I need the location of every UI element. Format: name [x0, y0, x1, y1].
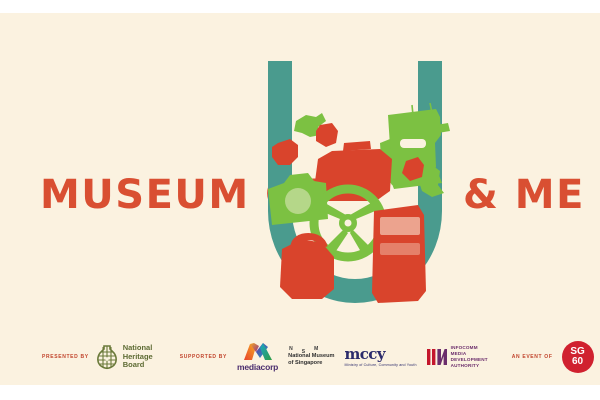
nhb-wordmark: National Heritage Board: [123, 344, 153, 369]
radio-cassette-icon: [372, 205, 426, 303]
sg60-logo[interactable]: SG 60: [562, 341, 594, 373]
mccy-wordmark: mccy: [344, 347, 384, 362]
credit-an-event-of: AN EVENT OF SG 60: [512, 341, 594, 373]
national-heritage-board-logo[interactable]: National Heritage Board: [96, 344, 153, 370]
footer-credits: PRESENTED BY National Heritage Board SUP…: [0, 328, 600, 385]
poster-canvas: MUSEUM OF & ME: [0, 13, 600, 385]
nms-mark-m: M: [314, 347, 318, 352]
mediacorp-m-icon: [243, 342, 273, 361]
imda-wordmark: INFOCOMM MEDIA DEVELOPMENT AUTHORITY: [451, 345, 488, 369]
mccy-logo[interactable]: mccy Ministry of Culture, Community and …: [344, 347, 416, 367]
an-event-of-label: AN EVENT OF: [512, 354, 553, 360]
nms-letter-mark: N S M: [288, 347, 334, 352]
credit-presented-by: PRESENTED BY National Heritage Board: [42, 344, 153, 370]
imda-line-4: AUTHORITY: [451, 363, 488, 369]
credit-supported-by: SUPPORTED BY: [180, 342, 488, 372]
nms-mark-n: N: [289, 347, 293, 352]
hero-section: MUSEUM OF & ME: [0, 13, 600, 313]
mccy-subtitle: Ministry of Culture, Community and Youth: [344, 363, 416, 367]
nms-mark-s: S: [302, 350, 305, 355]
nms-wordmark: National Museum of Singapore: [288, 353, 334, 367]
nms-line-1: National Museum: [288, 353, 334, 360]
bottom-white-band: [0, 385, 600, 400]
imda-bars-icon: [427, 347, 447, 367]
toy-figurine-red-1: [316, 123, 338, 147]
presented-by-label: PRESENTED BY: [42, 354, 89, 360]
supported-by-label: SUPPORTED BY: [180, 354, 227, 360]
top-white-band: [0, 0, 600, 13]
nhb-line-3: Board: [123, 361, 153, 369]
imda-logo[interactable]: INFOCOMM MEDIA DEVELOPMENT AUTHORITY: [427, 345, 488, 369]
nms-line-2: of Singapore: [288, 360, 334, 367]
sg60-line-2: 60: [572, 357, 583, 367]
page-title-right: & ME: [463, 175, 585, 215]
letter-u-artwork: [240, 43, 470, 313]
heritage-vase-icon: [96, 344, 118, 370]
national-museum-logo[interactable]: N S M National Museum of Singapore: [288, 347, 334, 367]
mediacorp-logo[interactable]: mediacorp: [237, 342, 278, 372]
mediacorp-wordmark: mediacorp: [237, 362, 278, 372]
